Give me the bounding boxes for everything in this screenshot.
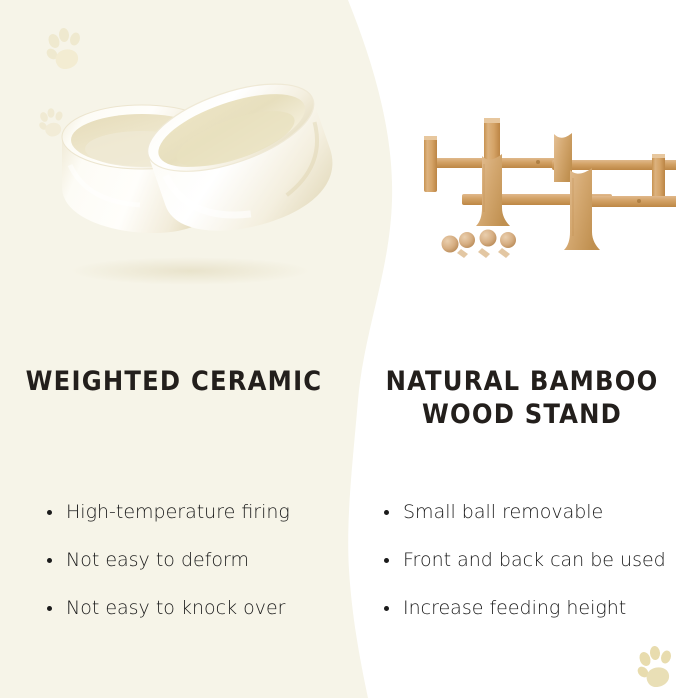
wooden-ball bbox=[480, 230, 497, 247]
wooden-peg bbox=[457, 249, 468, 258]
feature-list-item: Not easy to deform bbox=[45, 545, 345, 593]
feature-list-item: Increase feeding height bbox=[382, 593, 679, 641]
feature-text: Front and back can be used bbox=[403, 549, 666, 571]
screw-hole-back-left bbox=[536, 160, 540, 164]
wooden-ball bbox=[500, 232, 516, 248]
wooden-ball bbox=[459, 232, 475, 248]
left-panel-heading: WEIGHTED CERAMIC bbox=[14, 366, 334, 399]
bamboo-post-back-far-left bbox=[424, 136, 437, 192]
bamboo-post-back-right bbox=[554, 133, 572, 182]
bullet-dot-icon bbox=[47, 606, 52, 611]
left-panel-feature-list: High-temperature firing Not easy to defo… bbox=[45, 497, 345, 641]
feature-text: Not easy to deform bbox=[66, 549, 249, 571]
feature-text: Small ball removable bbox=[403, 501, 603, 523]
wooden-peg bbox=[498, 248, 510, 258]
left-heading-line-1: WEIGHTED CERAMIC bbox=[14, 366, 334, 399]
wooden-ball bbox=[442, 236, 459, 253]
bullet-dot-icon bbox=[47, 510, 52, 515]
bullet-dot-icon bbox=[384, 510, 389, 515]
right-heading-line-1: NATURAL BAMBOO bbox=[372, 366, 672, 399]
feature-list-item: Not easy to knock over bbox=[45, 593, 345, 641]
screw-hole-front-right bbox=[637, 199, 641, 203]
paw-print-icon-large bbox=[45, 28, 85, 70]
feature-text: Increase feeding height bbox=[403, 597, 626, 619]
right-panel-feature-list: Small ball removable Front and back can … bbox=[382, 497, 679, 641]
feature-text: High-temperature firing bbox=[66, 501, 290, 523]
paw-print-icon-corner bbox=[636, 646, 676, 688]
ceramic-bowls-image bbox=[40, 75, 340, 285]
feature-list-item: High-temperature firing bbox=[45, 497, 345, 545]
bullet-dot-icon bbox=[384, 558, 389, 563]
right-panel-heading: NATURAL BAMBOO WOOD STAND bbox=[372, 366, 672, 432]
wooden-balls-group bbox=[442, 230, 517, 259]
bullet-dot-icon bbox=[384, 606, 389, 611]
infographic-canvas: WEIGHTED CERAMIC NATURAL BAMBOO WOOD STA… bbox=[0, 0, 679, 698]
bamboo-stand-image bbox=[404, 112, 676, 267]
wooden-peg bbox=[478, 248, 490, 258]
feature-text: Not easy to knock over bbox=[66, 597, 285, 619]
bamboo-rail-front-right bbox=[582, 196, 676, 207]
bullet-dot-icon bbox=[47, 558, 52, 563]
feature-list-item: Small ball removable bbox=[382, 497, 679, 545]
right-heading-line-2: WOOD STAND bbox=[372, 399, 672, 432]
feature-list-item: Front and back can be used bbox=[382, 545, 679, 593]
